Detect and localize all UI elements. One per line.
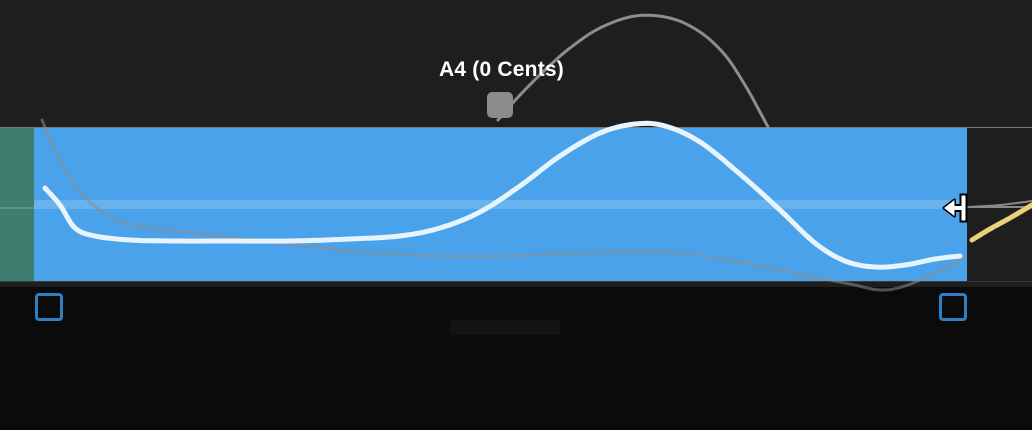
selection-top-edge <box>0 127 1032 128</box>
selection-left-drag-handle[interactable] <box>35 293 63 321</box>
selection-left-region[interactable] <box>0 127 34 282</box>
note-pitch-label: A4 (0 Cents) <box>0 58 1003 82</box>
lower-panel[interactable] <box>0 287 1032 430</box>
selection-bottom-edge <box>0 281 1032 282</box>
pitch-editor-window: A4 (0 Cents) <box>0 0 1032 430</box>
note-drag-handle[interactable] <box>487 92 513 118</box>
lower-panel-ghost-block <box>450 320 560 335</box>
selection-right-drag-handle[interactable] <box>939 293 967 321</box>
center-reference-line-right <box>967 206 1032 208</box>
center-reference-line-left <box>0 207 34 209</box>
center-reference-line-selection <box>34 200 967 209</box>
resize-horizontal-left-cursor <box>940 190 974 226</box>
